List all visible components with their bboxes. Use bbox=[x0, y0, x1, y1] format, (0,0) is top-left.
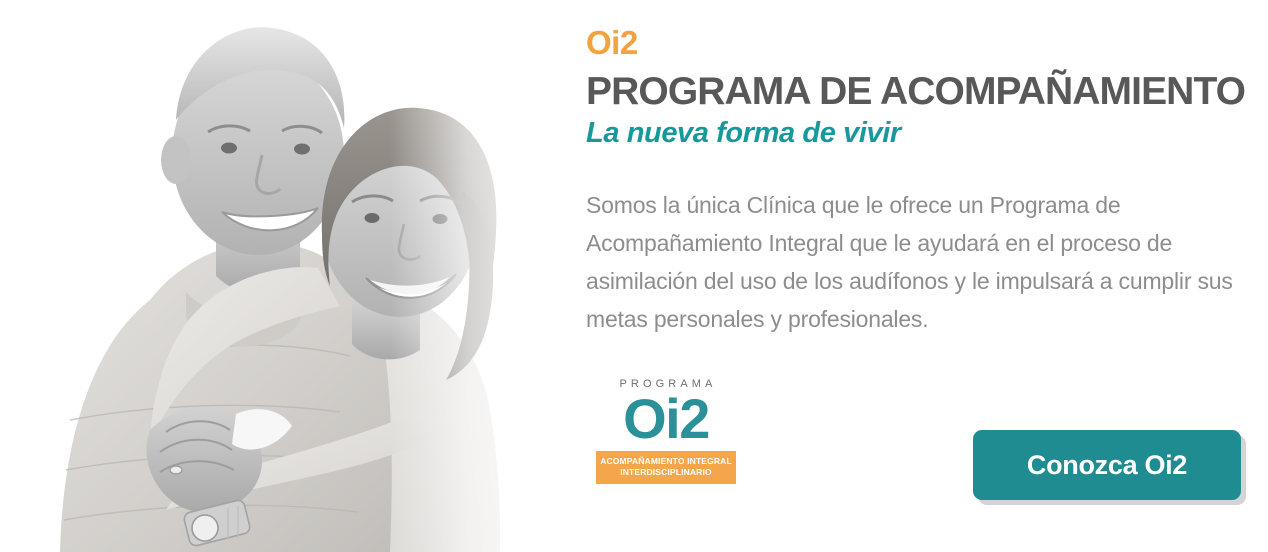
page-title: PROGRAMA DE ACOMPAÑAMIENTO bbox=[586, 72, 1245, 111]
brand-eyebrow: Oi2 bbox=[586, 26, 638, 59]
program-logo-mark: Oi2 bbox=[596, 392, 736, 446]
couple-photo: Pareja madura sonriente abrazada, fotogr… bbox=[0, 0, 560, 552]
program-oi2-logo: PROGRAMA Oi2 ACOMPAÑAMIENTO INTEGRAL INT… bbox=[596, 378, 736, 484]
program-logo-banner-line2: INTERDISCIPLINARIO bbox=[600, 467, 732, 478]
couple-photo-illustration: Pareja madura sonriente abrazada, fotogr… bbox=[0, 0, 560, 552]
body-paragraph: Somos la única Clínica que le ofrece un … bbox=[586, 186, 1238, 338]
program-logo-banner: ACOMPAÑAMIENTO INTEGRAL INTERDISCIPLINAR… bbox=[596, 451, 736, 484]
tagline: La nueva forma de vivir bbox=[586, 119, 901, 148]
conozca-oi2-button[interactable]: Conozca Oi2 bbox=[973, 430, 1241, 500]
program-logo-banner-line1: ACOMPAÑAMIENTO INTEGRAL bbox=[600, 456, 732, 467]
oi2-promo-banner: Pareja madura sonriente abrazada, fotogr… bbox=[0, 0, 1268, 552]
